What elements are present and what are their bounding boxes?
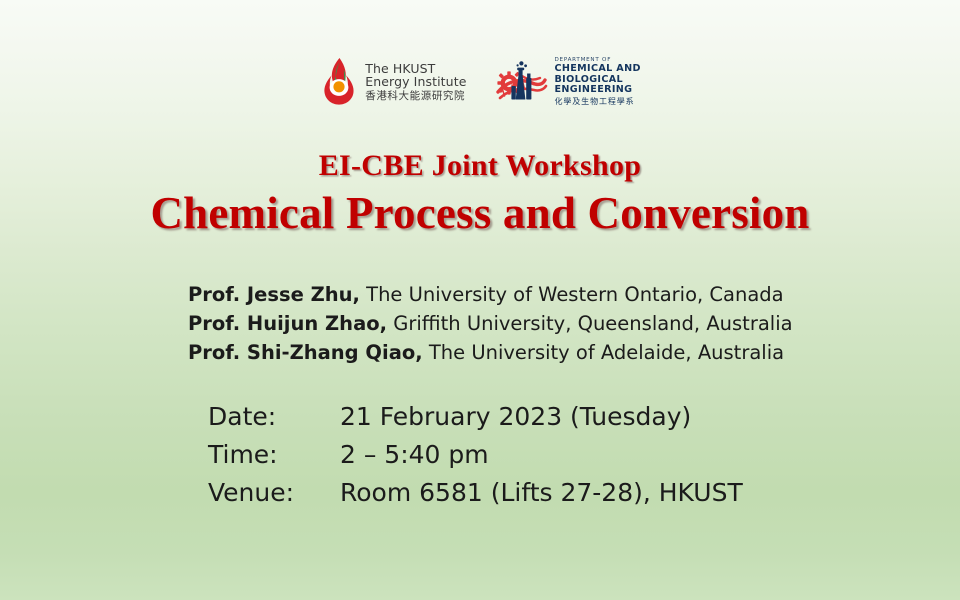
speaker-row: Prof. Shi-Zhang Qiao, The University of …: [188, 338, 888, 367]
speaker-list: Prof. Jesse Zhu, The University of Weste…: [188, 280, 888, 367]
ei-line-2: Energy Institute: [365, 75, 466, 89]
speaker-name: Prof. Shi-Zhang Qiao,: [188, 341, 423, 364]
workshop-title: Chemical Process and Conversion: [0, 186, 960, 240]
detail-row-date: Date: 21 February 2023 (Tuesday): [208, 398, 743, 436]
speaker-row: Prof. Jesse Zhu, The University of Weste…: [188, 280, 888, 309]
title-block: EI-CBE Joint Workshop Chemical Process a…: [0, 148, 960, 240]
time-label: Time:: [208, 436, 340, 474]
speaker-row: Prof. Huijun Zhao, Griffith University, …: [188, 309, 888, 338]
cbe-name-line-3: ENGINEERING: [554, 85, 640, 96]
hkust-flame-logo-icon: [319, 56, 359, 108]
workshop-subtitle: EI-CBE Joint Workshop: [0, 148, 960, 184]
detail-row-time: Time: 2 – 5:40 pm: [208, 436, 743, 474]
speaker-affiliation: The University of Adelaide, Australia: [423, 341, 784, 364]
detail-row-venue: Venue: Room 6581 (Lifts 27-28), HKUST: [208, 474, 743, 512]
logo-cbe-department: DEPARTMENT OF CHEMICAL AND BIOLOGICAL EN…: [492, 56, 640, 108]
ei-chinese-name: 香港科大能源研究院: [365, 90, 466, 103]
speaker-affiliation: Griffith University, Queensland, Austral…: [387, 312, 793, 335]
speaker-affiliation: The University of Western Ontario, Canad…: [360, 283, 784, 306]
cbe-chinese-name: 化學及生物工程學系: [554, 97, 640, 107]
logo-hkust-energy-institute: The HKUST Energy Institute 香港科大能源研究院: [319, 56, 466, 108]
ei-line-1: The HKUST: [365, 62, 466, 76]
hkust-energy-institute-wordmark: The HKUST Energy Institute 香港科大能源研究院: [365, 62, 466, 103]
speaker-name: Prof. Jesse Zhu,: [188, 283, 360, 306]
event-poster: The HKUST Energy Institute 香港科大能源研究院: [0, 0, 960, 600]
logo-row: The HKUST Energy Institute 香港科大能源研究院: [0, 56, 960, 108]
venue-value: Room 6581 (Lifts 27-28), HKUST: [340, 474, 743, 512]
cbe-wordmark: DEPARTMENT OF CHEMICAL AND BIOLOGICAL EN…: [554, 57, 640, 107]
time-value: 2 – 5:40 pm: [340, 436, 489, 474]
speaker-name: Prof. Huijun Zhao,: [188, 312, 387, 335]
cbe-dna-gear-logo-icon: [492, 56, 548, 108]
venue-label: Venue:: [208, 474, 340, 512]
date-value: 21 February 2023 (Tuesday): [340, 398, 691, 436]
date-label: Date:: [208, 398, 340, 436]
event-details: Date: 21 February 2023 (Tuesday) Time: 2…: [208, 398, 743, 512]
